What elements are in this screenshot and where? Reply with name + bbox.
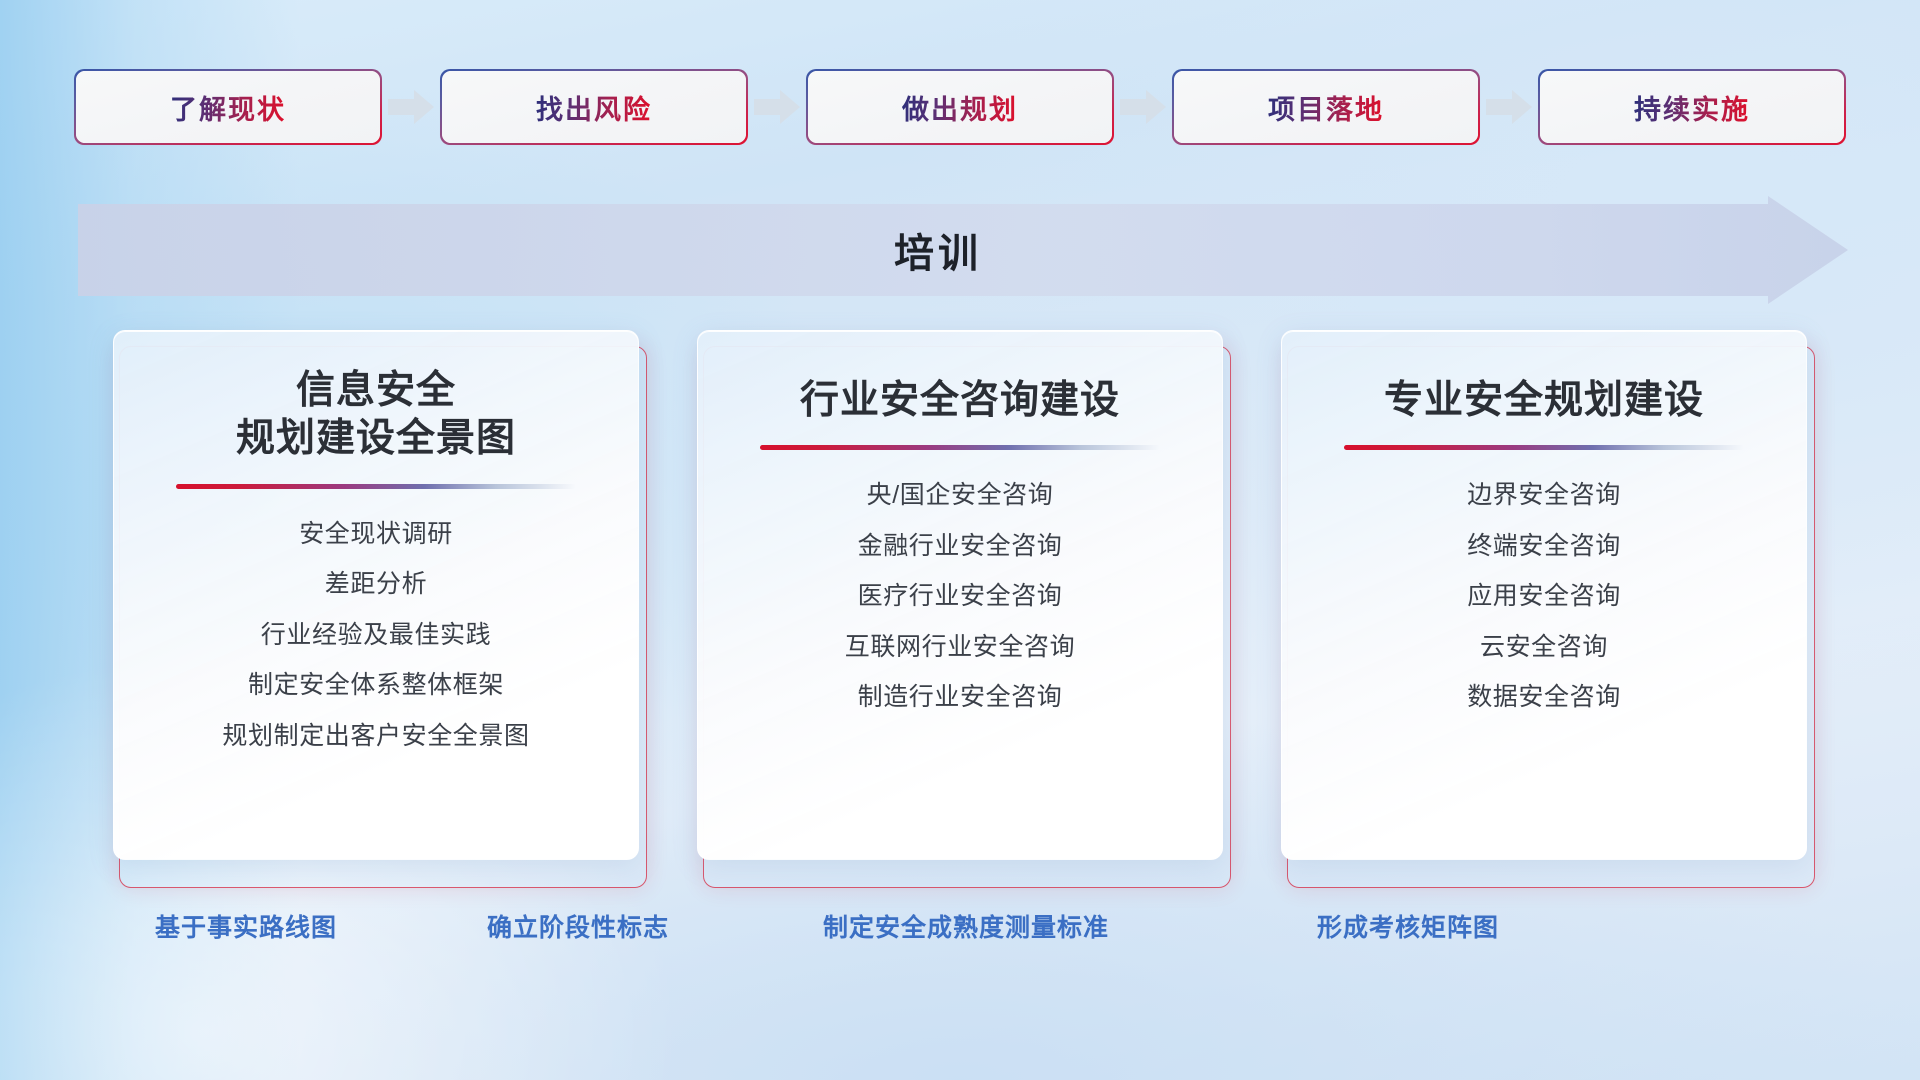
card-2-list-item-4: 互联网行业安全咨询	[845, 630, 1075, 666]
step-box-inner-3: 做出规划	[808, 71, 1112, 143]
card-3-list-item-5: 数据安全咨询	[1467, 680, 1621, 716]
step-label-1: 了解现状	[170, 88, 286, 127]
process-steps-row: 了解现状 找出风险 做出规划 项目落地 持续实施	[0, 68, 1920, 146]
step-box-1[interactable]: 了解现状	[76, 71, 380, 143]
card-2-title-line-1: 行业安全咨询建设	[716, 377, 1204, 425]
card-3-list-item-3: 应用安全咨询	[1467, 579, 1621, 615]
card-2-list-item-1: 央/国企安全咨询	[867, 478, 1054, 514]
card-1-list-item-4: 制定安全体系整体框架	[248, 668, 504, 704]
cards-row: 信息安全规划建设全景图 安全现状调研差距分析行业经验及最佳实践制定安全体系整体框…	[0, 330, 1920, 890]
step-box-5[interactable]: 持续实施	[1540, 71, 1844, 143]
chevron-right-arrow-icon	[754, 90, 800, 124]
card-3-list: 边界安全咨询终端安全咨询应用安全咨询云安全咨询数据安全咨询	[1282, 478, 1806, 716]
card-2-list-item-5: 制造行业安全咨询	[858, 680, 1063, 716]
card-2-list-item-2: 金融行业安全咨询	[858, 529, 1063, 565]
card-3-title-line-1: 专业安全规划建设	[1300, 377, 1788, 425]
card-3-list-item-2: 终端安全咨询	[1467, 529, 1621, 565]
card-1-title-line-1: 信息安全	[132, 367, 620, 415]
step-box-inner-4: 项目落地	[1174, 71, 1478, 143]
step-label-3: 做出规划	[902, 88, 1018, 127]
card-3-panel: 专业安全规划建设 边界安全咨询终端安全咨询应用安全咨询云安全咨询数据安全咨询	[1281, 330, 1807, 860]
step-arrow-2	[754, 90, 800, 124]
card-1-list-item-1: 安全现状调研	[299, 517, 453, 553]
card-3[interactable]: 专业安全规划建设 边界安全咨询终端安全咨询应用安全咨询云安全咨询数据安全咨询	[1281, 330, 1807, 878]
card-1-list-item-2: 差距分析	[325, 567, 427, 603]
card-2-divider	[760, 445, 1160, 450]
card-2-list: 央/国企安全咨询金融行业安全咨询医疗行业安全咨询互联网行业安全咨询制造行业安全咨…	[698, 478, 1222, 716]
card-3-list-item-1: 边界安全咨询	[1467, 478, 1621, 514]
card-1-list-item-5: 规划制定出客户安全全景图	[222, 719, 529, 755]
bottom-label-4: 形成考核矩阵图	[1317, 908, 1499, 944]
training-banner: 培训	[78, 196, 1848, 304]
card-1[interactable]: 信息安全规划建设全景图 安全现状调研差距分析行业经验及最佳实践制定安全体系整体框…	[113, 330, 639, 878]
card-1-list-item-3: 行业经验及最佳实践	[261, 618, 491, 654]
card-3-divider	[1344, 445, 1744, 450]
card-2[interactable]: 行业安全咨询建设 央/国企安全咨询金融行业安全咨询医疗行业安全咨询互联网行业安全…	[697, 330, 1223, 878]
step-box-inner-2: 找出风险	[442, 71, 746, 143]
card-2-title: 行业安全咨询建设	[698, 377, 1222, 425]
card-1-panel: 信息安全规划建设全景图 安全现状调研差距分析行业经验及最佳实践制定安全体系整体框…	[113, 330, 639, 860]
step-box-4[interactable]: 项目落地	[1174, 71, 1478, 143]
chevron-right-arrow-icon	[388, 90, 434, 124]
card-2-panel: 行业安全咨询建设 央/国企安全咨询金融行业安全咨询医疗行业安全咨询互联网行业安全…	[697, 330, 1223, 860]
step-box-inner-1: 了解现状	[76, 71, 380, 143]
step-box-2[interactable]: 找出风险	[442, 71, 746, 143]
card-3-list-item-4: 云安全咨询	[1480, 630, 1608, 666]
card-1-title: 信息安全规划建设全景图	[114, 367, 638, 464]
step-arrow-1	[388, 90, 434, 124]
chevron-right-arrow-icon	[1486, 90, 1532, 124]
step-box-inner-5: 持续实施	[1540, 71, 1844, 143]
slide-canvas: 了解现状 找出风险 做出规划 项目落地 持续实施	[0, 0, 1920, 1080]
card-1-divider	[176, 484, 576, 489]
card-1-title-line-2: 规划建设全景图	[132, 415, 620, 463]
step-arrow-3	[1120, 90, 1166, 124]
step-arrow-4	[1486, 90, 1532, 124]
step-label-2: 找出风险	[536, 88, 652, 127]
bottom-label-1: 基于事实路线图	[155, 908, 337, 944]
bottom-label-3: 制定安全成熟度测量标准	[823, 908, 1109, 944]
card-3-title: 专业安全规划建设	[1282, 377, 1806, 425]
step-label-5: 持续实施	[1634, 88, 1750, 127]
card-2-list-item-3: 医疗行业安全咨询	[858, 579, 1063, 615]
card-1-list: 安全现状调研差距分析行业经验及最佳实践制定安全体系整体框架规划制定出客户安全全景…	[114, 517, 638, 755]
step-label-4: 项目落地	[1268, 88, 1384, 127]
bottom-labels-row: 基于事实路线图确立阶段性标志制定安全成熟度测量标准形成考核矩阵图	[0, 908, 1920, 958]
bottom-label-2: 确立阶段性标志	[487, 908, 669, 944]
banner-title: 培训	[78, 196, 1798, 304]
step-box-3[interactable]: 做出规划	[808, 71, 1112, 143]
chevron-right-arrow-icon	[1120, 90, 1166, 124]
